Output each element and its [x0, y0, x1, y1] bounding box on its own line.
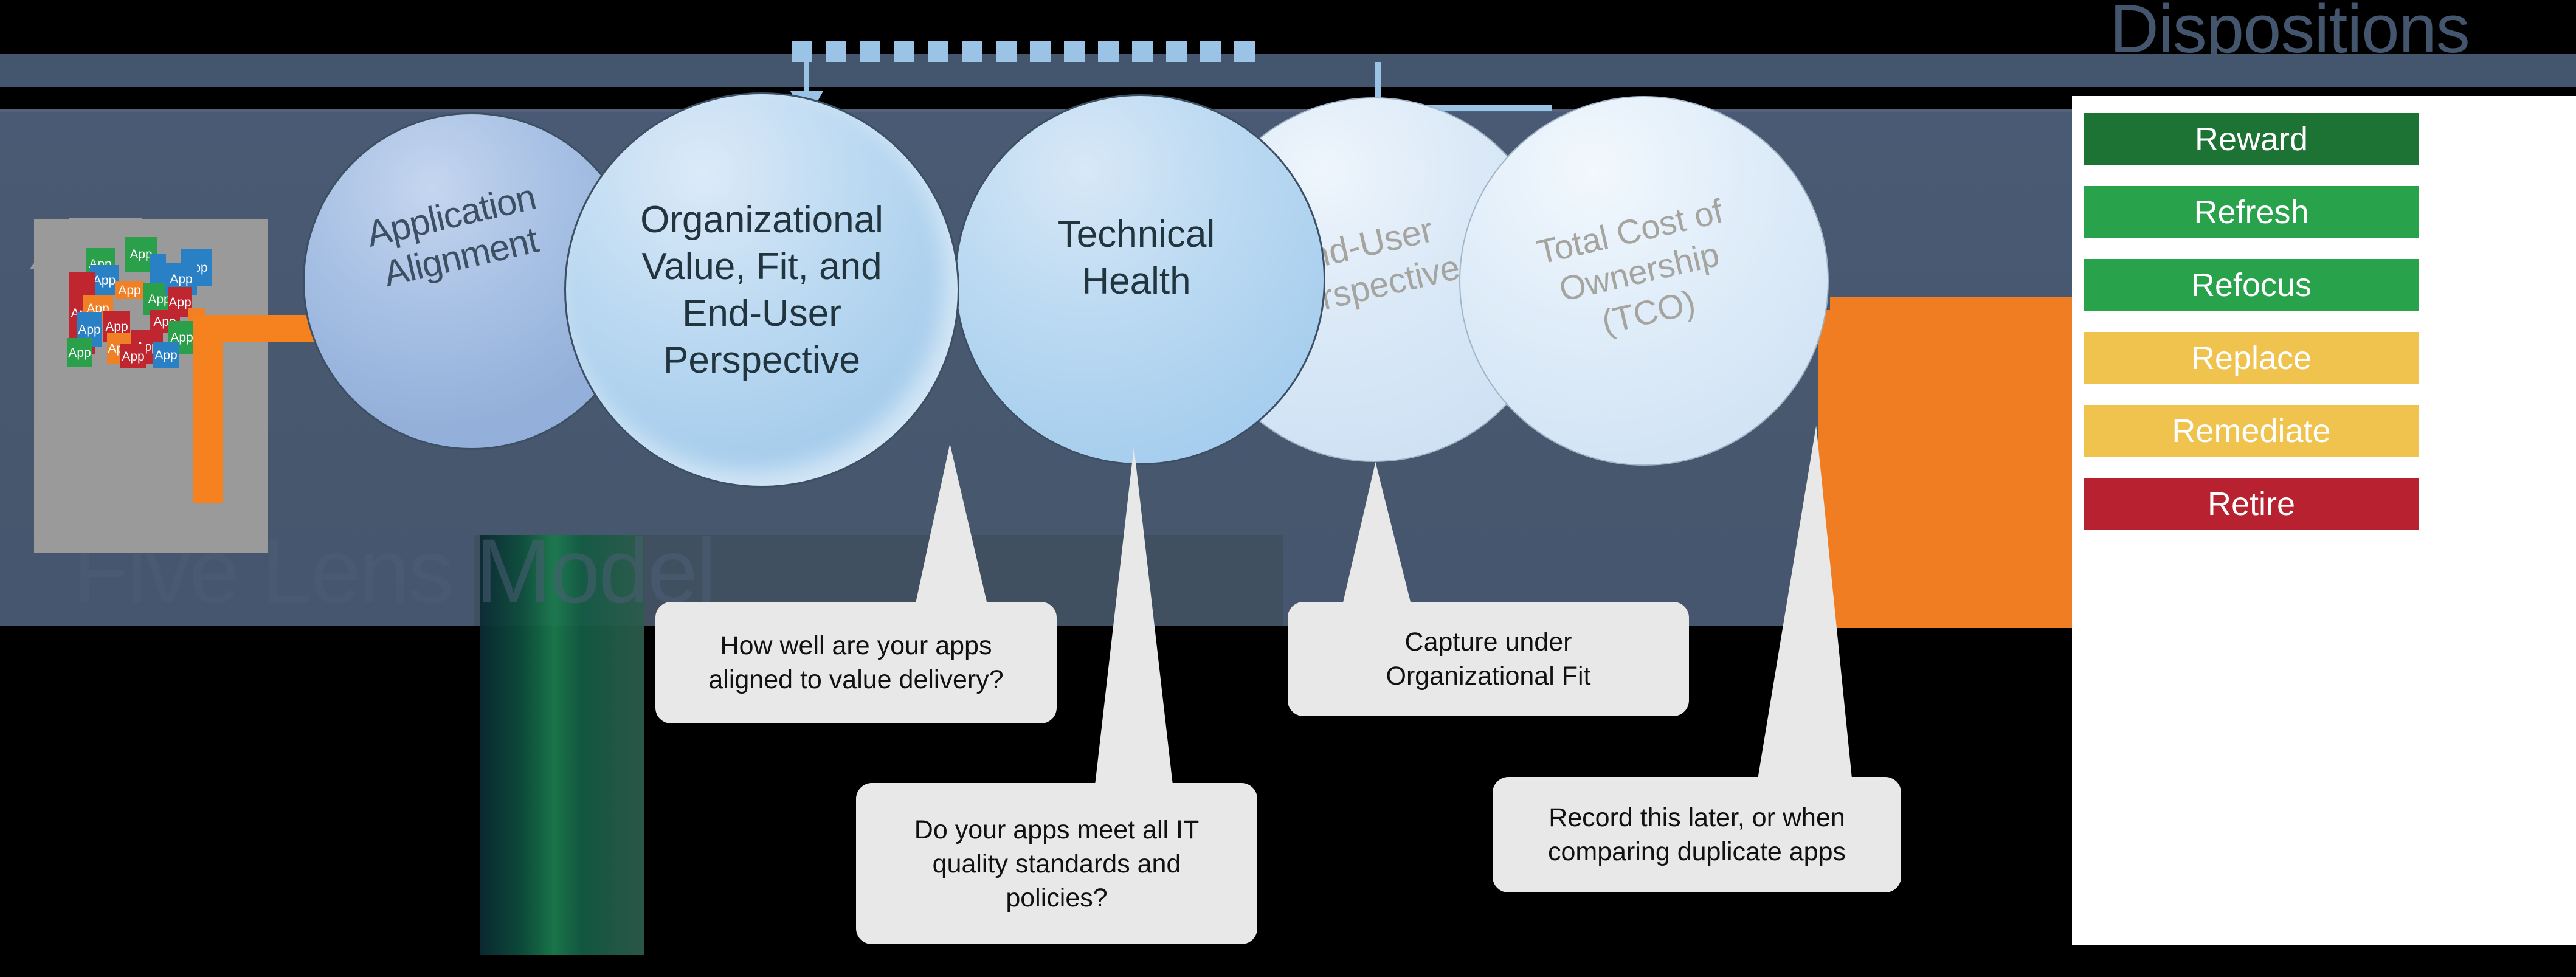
dash-segment — [928, 41, 948, 62]
lens-label: ApplicationAlignment — [363, 175, 550, 297]
lens-circle-organizational-value[interactable]: OrganizationalValue, Fit, andEnd-UserPer… — [564, 92, 959, 488]
dashed-scope-line — [792, 41, 1255, 62]
disposition-refocus[interactable]: Refocus — [2084, 259, 2419, 311]
callout-bubble: Do your apps meet all ITquality standard… — [856, 783, 1257, 944]
dispositions-title: Dispositions — [2110, 0, 2499, 68]
lens-label: OrganizationalValue, Fit, andEnd-UserPer… — [610, 196, 914, 384]
dash-segment — [962, 41, 982, 62]
dispositions-panel: RewardRefreshRefocusReplaceRemediateReti… — [2072, 96, 2576, 945]
dispositions-list: RewardRefreshRefocusReplaceRemediateReti… — [2084, 113, 2552, 551]
dash-segment — [1200, 41, 1221, 62]
dash-segment — [860, 41, 880, 62]
lens-label: TechnicalHealth — [1058, 211, 1215, 305]
app-tile: App — [120, 344, 146, 368]
orange-connector-vertical — [193, 315, 223, 503]
lens-circle-total-cost-of-ownership[interactable]: Total Cost ofOwnership(TCO) — [1459, 96, 1829, 466]
dash-segment — [1030, 41, 1051, 62]
callout-bubble: Record this later, or whencomparing dupl… — [1493, 777, 1901, 892]
app-tile: App — [153, 342, 179, 368]
dash-segment — [826, 41, 846, 62]
disposition-refresh[interactable]: Refresh — [2084, 186, 2419, 238]
dash-segment — [1098, 41, 1119, 62]
disposition-replace[interactable]: Replace — [2084, 332, 2419, 384]
dash-segment — [792, 41, 812, 62]
dash-segment — [1166, 41, 1187, 62]
app-tile: App — [115, 281, 144, 299]
dash-segment — [1132, 41, 1153, 62]
dash-segment — [894, 41, 914, 62]
dash-segment — [1234, 41, 1255, 62]
app-tile: App — [67, 338, 92, 367]
disposition-reward[interactable]: Reward — [2084, 113, 2419, 165]
slide-canvas: Five Lens Model AppAppAppAppAppAppAppApp… — [0, 0, 2576, 977]
lens-circle-technical-health[interactable]: TechnicalHealth — [955, 94, 1325, 465]
disposition-retire[interactable]: Retire — [2084, 478, 2419, 530]
dash-segment — [996, 41, 1017, 62]
disposition-remediate[interactable]: Remediate — [2084, 405, 2419, 457]
callout-bubble: Capture underOrganizational Fit — [1288, 602, 1689, 716]
application-portfolio-bin: AppAppAppAppAppAppAppAppAppAppAppAppAppA… — [17, 195, 268, 553]
callout-bubble: How well are your appsaligned to value d… — [655, 602, 1057, 723]
lens-label: Total Cost ofOwnership(TCO) — [1533, 190, 1746, 354]
dash-segment — [1064, 41, 1085, 62]
